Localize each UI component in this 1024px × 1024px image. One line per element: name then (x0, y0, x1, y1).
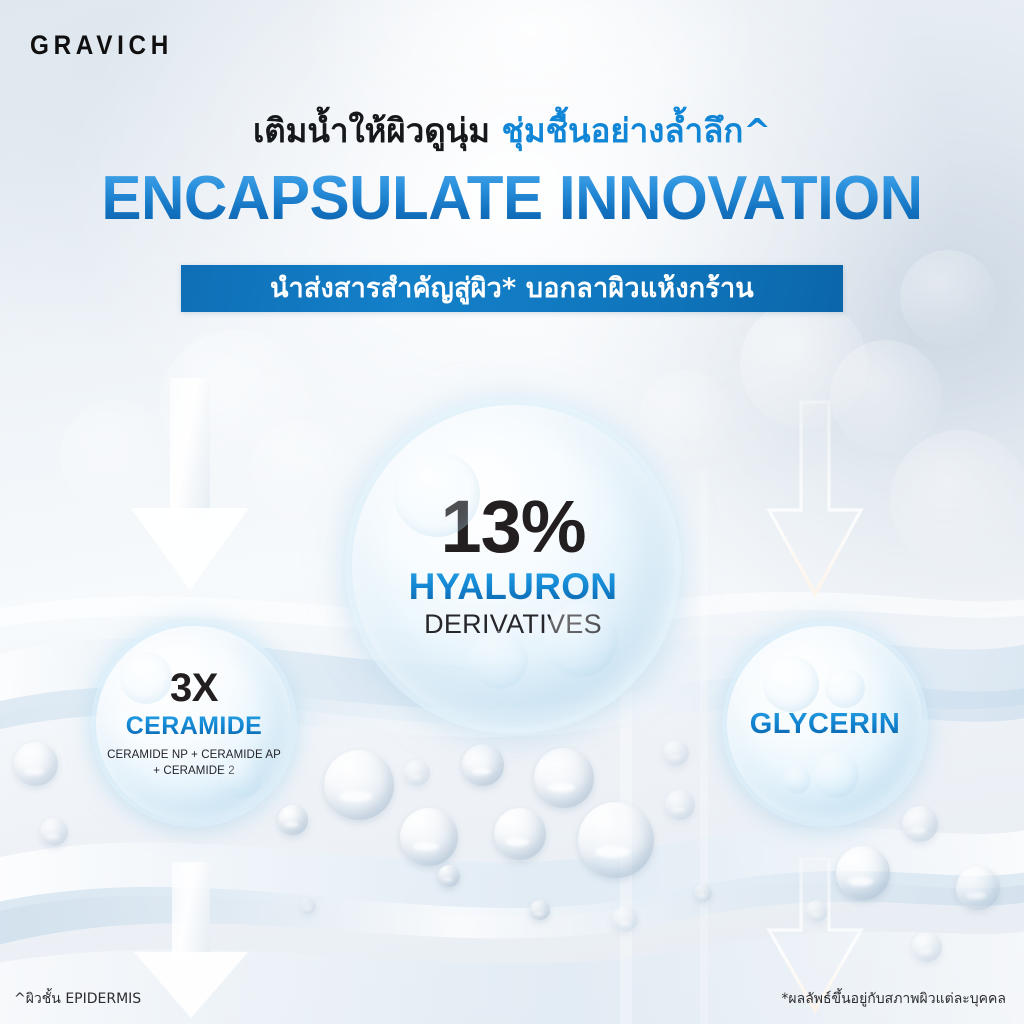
hyaluron-percent: 13% (440, 492, 585, 562)
water-droplet (912, 932, 942, 962)
water-droplet (494, 808, 546, 860)
blue-banner: นำส่งสารสำคัญสู่ผิว* บอกลาผิวแห้งกร้าน (181, 265, 843, 312)
water-droplet (400, 808, 458, 866)
water-droplet (902, 806, 938, 842)
down-arrow-top-left (130, 378, 250, 588)
hyaluron-subtitle: DERIVATIVES (424, 609, 602, 640)
footnote-results-disclaimer: *ผลลัพธ์ขึ้นอยู่กับสภาพผิวแต่ละบุคคล (781, 991, 1006, 1008)
bubble-hyaluron: 13% HYALURON DERIVATIVES (352, 405, 674, 727)
inner-bubble-highlight (783, 766, 811, 794)
bokeh-circle (60, 400, 170, 510)
bokeh-circle (250, 420, 350, 520)
water-droplet (40, 818, 68, 846)
water-droplet (806, 900, 828, 922)
thai-tagline-black: เติมน้ำให้ผิวดูนุ่ม (253, 111, 490, 150)
thai-tagline: เติมน้ำให้ผิวดูนุ่ม ชุ่มชื้นอย่างล้ำลึก^ (0, 110, 1024, 151)
ceramide-multiplier: 3X (170, 668, 218, 708)
bokeh-circle (640, 370, 730, 460)
main-headline: ENCAPSULATE INNOVATION (15, 166, 1008, 231)
water-droplet (324, 750, 394, 820)
water-droplet (665, 790, 695, 820)
water-droplet (612, 906, 638, 932)
banner-text: นำส่งสารสำคัญสู่ผิว* บอกลาผิวแห้งกร้าน (270, 275, 754, 302)
bokeh-circle (890, 430, 1024, 570)
brand-logo[interactable]: GRAVICH (30, 30, 173, 61)
bokeh-glow-top (300, 0, 760, 180)
down-arrow-bottom-left (132, 862, 250, 1022)
water-droplet (956, 866, 1000, 910)
inner-bubble-highlight (813, 752, 859, 798)
bubble-glycerin: GLYCERIN (727, 626, 923, 822)
footnote-epidermis: ^ผิวชั้น EPIDERMIS (14, 991, 141, 1008)
thai-tagline-blue: ชุ่มชื้นอย่างล้ำลึก^ (502, 111, 772, 150)
water-droplet (438, 865, 460, 887)
inner-bubble-highlight (120, 652, 172, 704)
water-droplet (530, 900, 550, 920)
bokeh-circle (740, 300, 868, 428)
inner-bubble-highlight (763, 656, 819, 712)
water-droplet (578, 802, 654, 878)
ceramide-detail-line1: CERAMIDE NP + CERAMIDE AP (94, 747, 294, 764)
water-droplet (663, 740, 689, 766)
ceramide-name: CERAMIDE (126, 713, 263, 741)
promo-poster: GRAVICH เติมน้ำให้ผิวดูนุ่ม ชุ่มชื้นอย่า… (0, 0, 1024, 1024)
bokeh-circle (900, 250, 996, 346)
ceramide-detail: CERAMIDE NP + CERAMIDE AP + CERAMIDE 2 (94, 747, 294, 780)
bokeh-circle (830, 340, 942, 452)
glycerin-name: GLYCERIN (750, 708, 900, 741)
ceramide-detail-line2: + CERAMIDE 2 (94, 763, 294, 780)
water-droplet (694, 884, 712, 902)
bokeh-circle (160, 330, 310, 480)
water-droplet (404, 760, 430, 786)
down-arrow-top-right (745, 398, 885, 618)
water-droplet (300, 898, 316, 914)
water-droplet (14, 742, 58, 786)
inner-bubble-highlight (470, 631, 528, 689)
water-droplet (462, 744, 504, 786)
bubble-ceramide: 3X CERAMIDE CERAMIDE NP + CERAMIDE AP + … (96, 626, 292, 822)
water-droplet (836, 846, 890, 900)
hyaluron-name: HYALURON (409, 567, 618, 607)
water-droplet (534, 748, 594, 808)
water-droplet (278, 805, 308, 835)
inner-bubble-highlight (825, 668, 865, 708)
